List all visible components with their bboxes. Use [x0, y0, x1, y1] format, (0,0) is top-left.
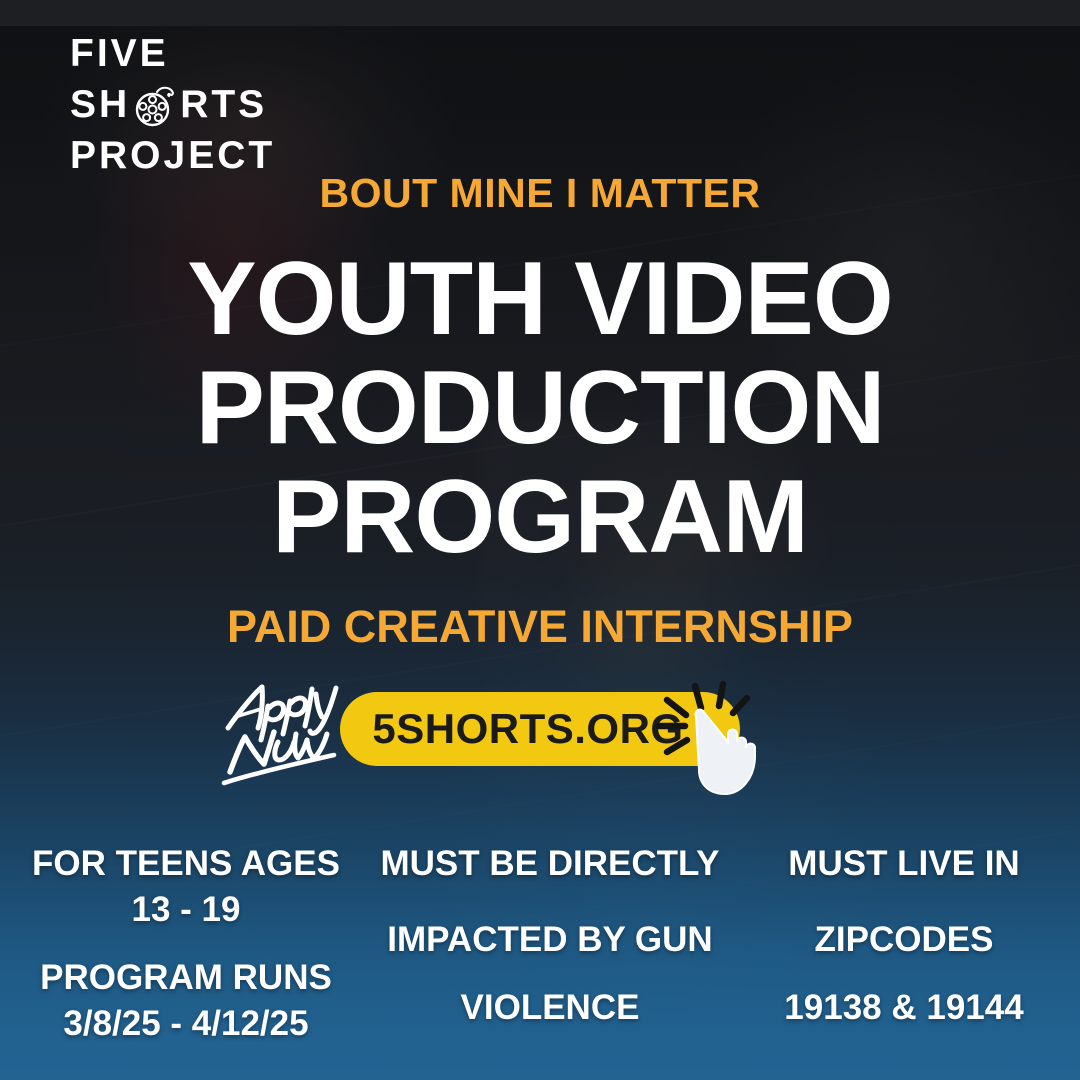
eligibility-facts: FOR TEENS AGES 13 - 19 PROGRAM RUNS 3/8/…	[0, 833, 1080, 1048]
film-reel-icon	[131, 81, 179, 129]
brand-logo: FIVE SH RTS PROJECT	[70, 28, 310, 181]
fact-block-ages: FOR TEENS AGES 13 - 19	[0, 841, 372, 933]
fact-left-line-2: 13 - 19	[0, 887, 372, 933]
fact-left-line-1: FOR TEENS AGES	[0, 841, 372, 887]
fact-right-line-2: ZIPCODES	[728, 917, 1080, 963]
fact-column-zipcodes: MUST LIVE IN ZIPCODES 19138 & 19144	[728, 833, 1080, 1048]
fact-mid-line-1: MUST BE DIRECTLY	[372, 841, 728, 887]
logo-shorts-suffix: RTS	[180, 79, 267, 130]
logo-line-five: FIVE	[70, 28, 310, 79]
fact-column-age-dates: FOR TEENS AGES 13 - 19 PROGRAM RUNS 3/8/…	[0, 833, 372, 1048]
logo-line-shorts: SH RTS	[70, 79, 310, 130]
call-to-action: 5SHORTS.ORG	[0, 668, 1080, 803]
pointing-hand-cursor-icon	[655, 680, 785, 800]
cta-button-label: 5SHORTS.ORG	[372, 705, 683, 753]
fact-left-line-4: 3/8/25 - 4/12/25	[0, 1001, 372, 1047]
fact-column-impact: MUST BE DIRECTLY IMPACTED BY GUN VIOLENC…	[372, 833, 728, 1048]
fact-mid-line-2: IMPACTED BY GUN	[372, 917, 728, 963]
headline-line-2: PRODUCTION	[0, 354, 1080, 463]
background-top-bar	[0, 0, 1080, 26]
fact-mid-line-3: VIOLENCE	[372, 985, 728, 1031]
fact-right-line-3: 19138 & 19144	[728, 985, 1080, 1031]
promotional-poster: FIVE SH RTS PROJECT BOUT MINE I MATTER	[0, 0, 1080, 1080]
logo-shorts-prefix: SH	[70, 79, 130, 130]
fact-right-line-1: MUST LIVE IN	[728, 841, 1080, 887]
fact-block-program-dates: PROGRAM RUNS 3/8/25 - 4/12/25	[0, 955, 372, 1047]
eyebrow-text: BOUT MINE I MATTER	[0, 170, 1080, 217]
apply-now-script-icon	[216, 676, 346, 786]
headline-line-3: PROGRAM	[0, 463, 1080, 572]
subtitle-text: PAID CREATIVE INTERNSHIP	[0, 601, 1080, 653]
page-title: YOUTH VIDEO PRODUCTION PROGRAM	[0, 245, 1080, 572]
headline-line-1: YOUTH VIDEO	[0, 245, 1080, 354]
fact-left-line-3: PROGRAM RUNS	[0, 955, 372, 1001]
